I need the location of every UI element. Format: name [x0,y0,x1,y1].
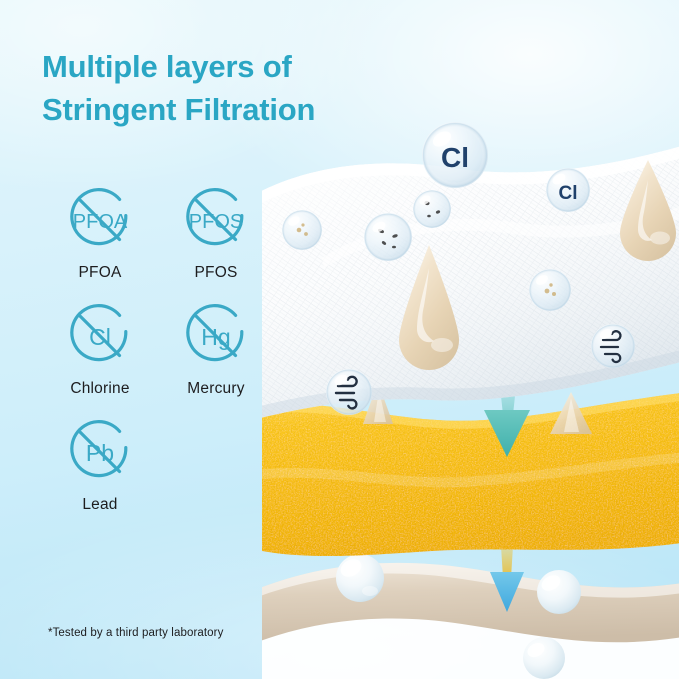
left-content-panel: Multiple layers of Stringent Filtration … [0,0,330,679]
particle-bubble-2 [364,213,412,261]
page-title: Multiple layers of Stringent Filtration [42,46,342,132]
no-pfoa-symbol: PFOA [73,211,128,233]
no-pfos-icon: PFOS [158,180,274,260]
badge-cell-empty [158,412,274,514]
no-lead-icon: Pb [42,412,158,492]
particle-bubble-4 [529,269,571,311]
badge-mercury: Hg Mercury [158,296,274,398]
contaminant-badge-grid: PFOA PFOA PFOS PFOS [42,180,292,528]
no-lead-symbol: Pb [86,440,114,466]
badge-row: Cl Chlorine Hg Mercury [42,296,292,398]
badge-label-pfoa: PFOA [42,264,158,282]
badge-chlorine: Cl Chlorine [42,296,158,398]
cl-bubble-small-label: Cl [559,183,578,204]
odor-bubble-1 [326,369,372,415]
badge-label-mercury: Mercury [158,380,274,398]
clear-droplet-left [336,554,384,602]
page-title-line-2: Stringent Filtration [42,89,342,132]
no-chlorine-symbol: Cl [89,324,111,350]
badge-row: PFOA PFOA PFOS PFOS [42,180,292,282]
badge-lead: Pb Lead [42,412,158,514]
footnote-text: *Tested by a third party laboratory [48,627,223,639]
particle-bubble-1 [413,190,451,228]
badge-pfoa: PFOA PFOA [42,180,158,282]
odor-bubble-2 [591,324,635,368]
badge-label-chlorine: Chlorine [42,380,158,398]
no-chlorine-icon: Cl [42,296,158,376]
cl-bubble-large-label: Cl [441,142,469,173]
no-mercury-symbol: Hg [201,324,230,350]
no-mercury-icon: Hg [158,296,274,376]
badge-label-pfos: PFOS [158,264,274,282]
badge-label-lead: Lead [42,496,158,514]
badge-pfos: PFOS PFOS [158,180,274,282]
cl-bubble-large: Cl [422,122,488,188]
no-pfos-symbol: PFOS [189,211,243,233]
clear-droplet-right [537,570,581,614]
page-title-line-1: Multiple layers of [42,46,342,89]
filtration-infographic-poster: Cl Cl [0,0,679,679]
badge-row: Pb Lead [42,412,292,514]
cl-bubble-small: Cl [546,168,590,212]
clear-droplet-bottom [523,637,565,679]
no-pfoa-icon: PFOA [42,180,158,260]
